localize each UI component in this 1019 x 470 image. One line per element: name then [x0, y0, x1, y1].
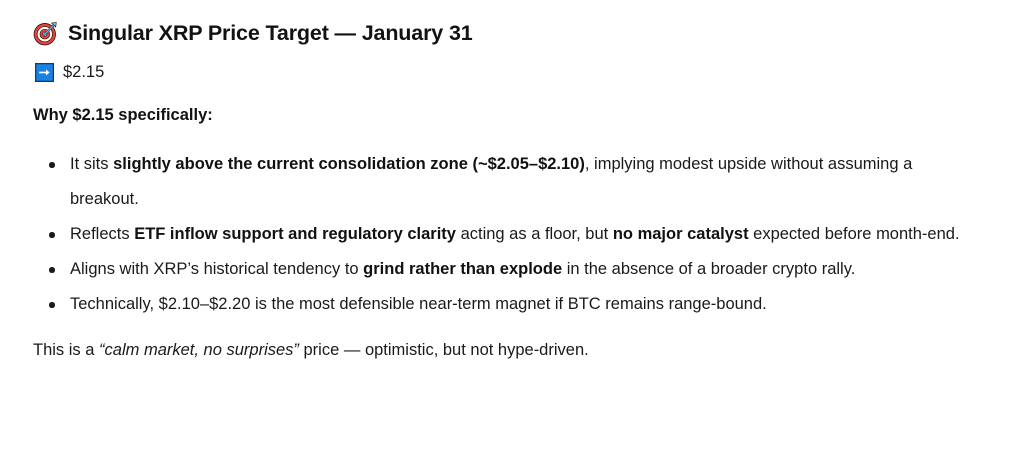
price-target-row: $2.15 — [0, 61, 1019, 83]
list-item-text: expected before month-end. — [749, 225, 960, 243]
list-item-emphasis: no major catalyst — [613, 225, 749, 243]
list-item-emphasis: grind rather than explode — [363, 260, 562, 278]
list-item: Aligns with XRP’s historical tendency to… — [0, 252, 1019, 287]
list-item: Technically, $2.10–$2.20 is the most def… — [0, 287, 1019, 322]
list-item-text: Aligns with XRP’s historical tendency to — [70, 260, 363, 278]
list-item-text: acting as a floor, but — [456, 225, 613, 243]
closing-prefix: This is a — [33, 341, 99, 359]
document-page: Singular XRP Price Target — January 31 $… — [0, 0, 1019, 470]
list-item-emphasis: slightly above the current consolidation… — [113, 155, 585, 173]
page-title-row: Singular XRP Price Target — January 31 — [0, 0, 1019, 50]
closing-suffix: price — optimistic, but not hype-driven. — [299, 341, 589, 359]
dartboard-icon — [33, 21, 58, 46]
list-item-emphasis: ETF inflow support and regulatory clarit… — [134, 225, 456, 243]
page-title: Singular XRP Price Target — January 31 — [68, 21, 473, 46]
list-item-text: Reflects — [70, 225, 134, 243]
list-item-text: It sits — [70, 155, 113, 173]
list-item-text: Technically, $2.10–$2.20 is the most def… — [70, 295, 767, 313]
why-heading: Why $2.15 specifically: — [0, 106, 1019, 125]
reasons-list: It sits slightly above the current conso… — [0, 147, 1019, 322]
list-item: It sits slightly above the current conso… — [0, 147, 1019, 217]
closing-quote: “calm market, no surprises” — [99, 341, 299, 359]
list-item: Reflects ETF inflow support and regulato… — [0, 217, 1019, 252]
price-target-value: $2.15 — [63, 63, 104, 82]
right-arrow-icon — [35, 63, 54, 82]
closing-statement: This is a “calm market, no surprises” pr… — [0, 338, 1019, 362]
list-item-text: in the absence of a broader crypto rally… — [562, 260, 855, 278]
